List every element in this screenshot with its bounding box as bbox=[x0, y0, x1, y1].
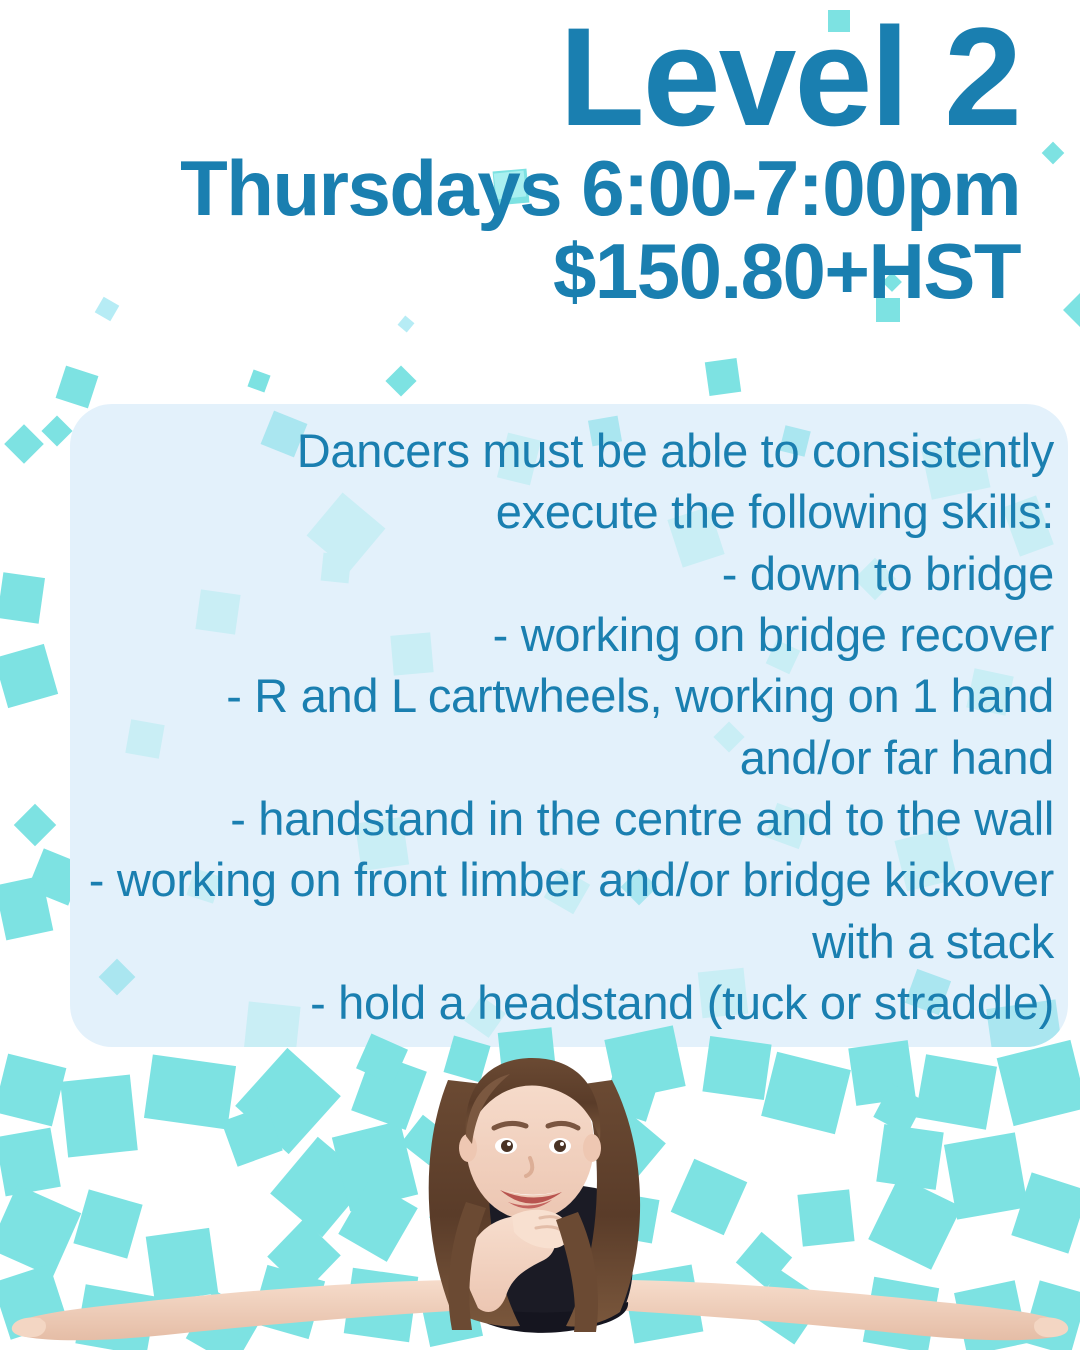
requirements-text-block: Dancers must be able to consistently exe… bbox=[70, 404, 1068, 1033]
requirement-item: - R and L cartwheels, working on 1 hand bbox=[84, 665, 1054, 726]
right-leg bbox=[575, 1280, 1068, 1340]
hair-right bbox=[566, 1080, 640, 1326]
gymnast-photo bbox=[0, 1040, 1080, 1350]
requirement-item: - working on bridge recover bbox=[84, 604, 1054, 665]
leotard bbox=[455, 1183, 632, 1333]
requirements-intro-line-1: Dancers must be able to consistently bbox=[84, 420, 1054, 481]
hair-strand-front-left bbox=[448, 1202, 486, 1330]
requirement-item: - hold a headstand (tuck or straddle) bbox=[84, 972, 1054, 1033]
requirements-intro-line-2: execute the following skills: bbox=[84, 481, 1054, 542]
head bbox=[459, 1058, 601, 1220]
price-text: $150.80+HST bbox=[0, 229, 1020, 311]
hair-strand-front bbox=[556, 1212, 598, 1332]
hair-left bbox=[429, 1080, 520, 1326]
poster-header: Level 2 Thursdays 6:00-7:00pm $150.80+HS… bbox=[0, 0, 1050, 311]
schedule-text: Thursdays 6:00-7:00pm bbox=[0, 144, 1020, 228]
requirement-item: - handstand in the centre and to the wal… bbox=[84, 788, 1054, 849]
poster-canvas: Level 2 Thursdays 6:00-7:00pm $150.80+HS… bbox=[0, 0, 1080, 1350]
arm-and-hand bbox=[467, 1210, 569, 1312]
left-leg bbox=[12, 1280, 505, 1340]
requirements-panel: Dancers must be able to consistently exe… bbox=[70, 404, 1068, 1047]
requirement-item-continuation: with a stack bbox=[84, 911, 1054, 972]
page-title: Level 2 bbox=[0, 0, 1020, 144]
requirement-item: - down to bridge bbox=[84, 543, 1054, 604]
requirement-item: - working on front limber and/or bridge … bbox=[84, 849, 1054, 910]
requirement-item-continuation: and/or far hand bbox=[84, 727, 1054, 788]
